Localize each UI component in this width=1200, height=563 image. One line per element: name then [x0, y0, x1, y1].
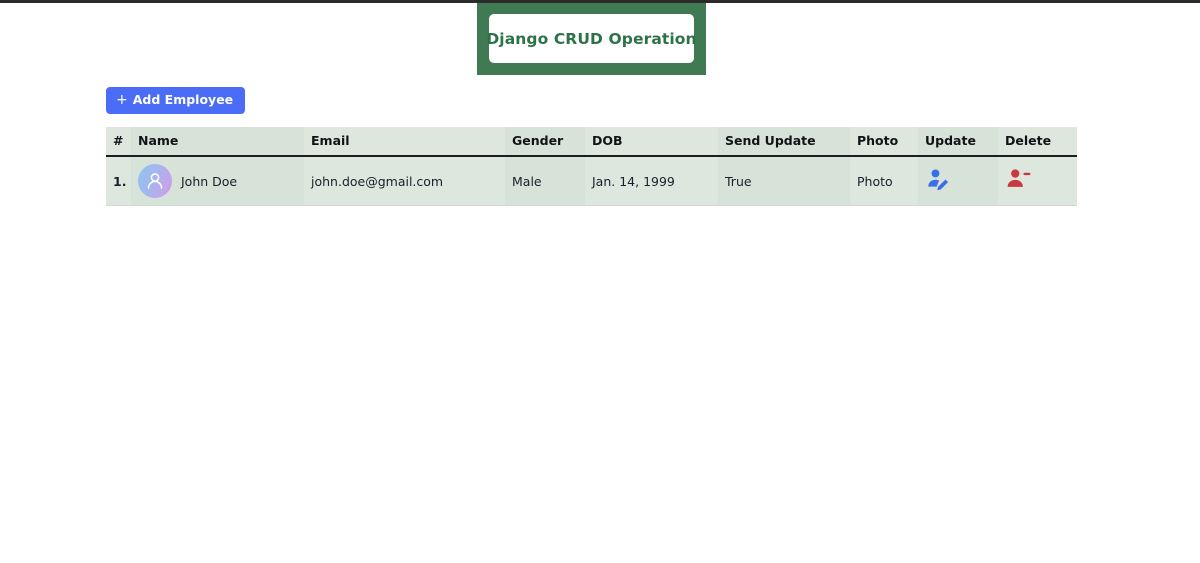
- header-gender: Gender: [505, 127, 585, 156]
- table-row: 1. John Doe john.doe@gmail.com Male Jan.…: [106, 156, 1077, 206]
- page-masthead: Django CRUD Operation: [477, 3, 706, 75]
- cell-photo: Photo: [850, 156, 918, 206]
- header-send-update: Send Update: [718, 127, 850, 156]
- user-avatar-icon: [138, 164, 172, 198]
- plus-icon: +: [116, 93, 128, 107]
- cell-dob: Jan. 14, 1999: [585, 156, 718, 206]
- employee-table: # Name Email Gender DOB Send Update Phot…: [106, 127, 1077, 206]
- cell-gender: Male: [505, 156, 585, 206]
- cell-update: [918, 156, 998, 206]
- header-dob: DOB: [585, 127, 718, 156]
- employee-name: John Doe: [181, 174, 237, 189]
- header-photo: Photo: [850, 127, 918, 156]
- header-delete: Delete: [998, 127, 1077, 156]
- cell-index: 1.: [106, 156, 131, 206]
- person-edit-icon: [925, 166, 952, 193]
- add-employee-label: Add Employee: [133, 94, 233, 107]
- page-title: Django CRUD Operation: [486, 30, 696, 48]
- delete-employee-button[interactable]: [1005, 166, 1032, 193]
- update-employee-button[interactable]: [925, 166, 952, 193]
- header-index: #: [106, 127, 131, 156]
- cell-email: john.doe@gmail.com: [304, 156, 505, 206]
- header-name: Name: [131, 127, 304, 156]
- person-remove-icon: [1005, 166, 1032, 193]
- cell-name: John Doe: [131, 156, 304, 206]
- header-email: Email: [304, 127, 505, 156]
- header-update: Update: [918, 127, 998, 156]
- title-card: Django CRUD Operation: [489, 14, 694, 63]
- cell-send-update: True: [718, 156, 850, 206]
- add-employee-button[interactable]: + Add Employee: [106, 87, 245, 114]
- cell-delete: [998, 156, 1077, 206]
- table-header-row: # Name Email Gender DOB Send Update Phot…: [106, 127, 1077, 156]
